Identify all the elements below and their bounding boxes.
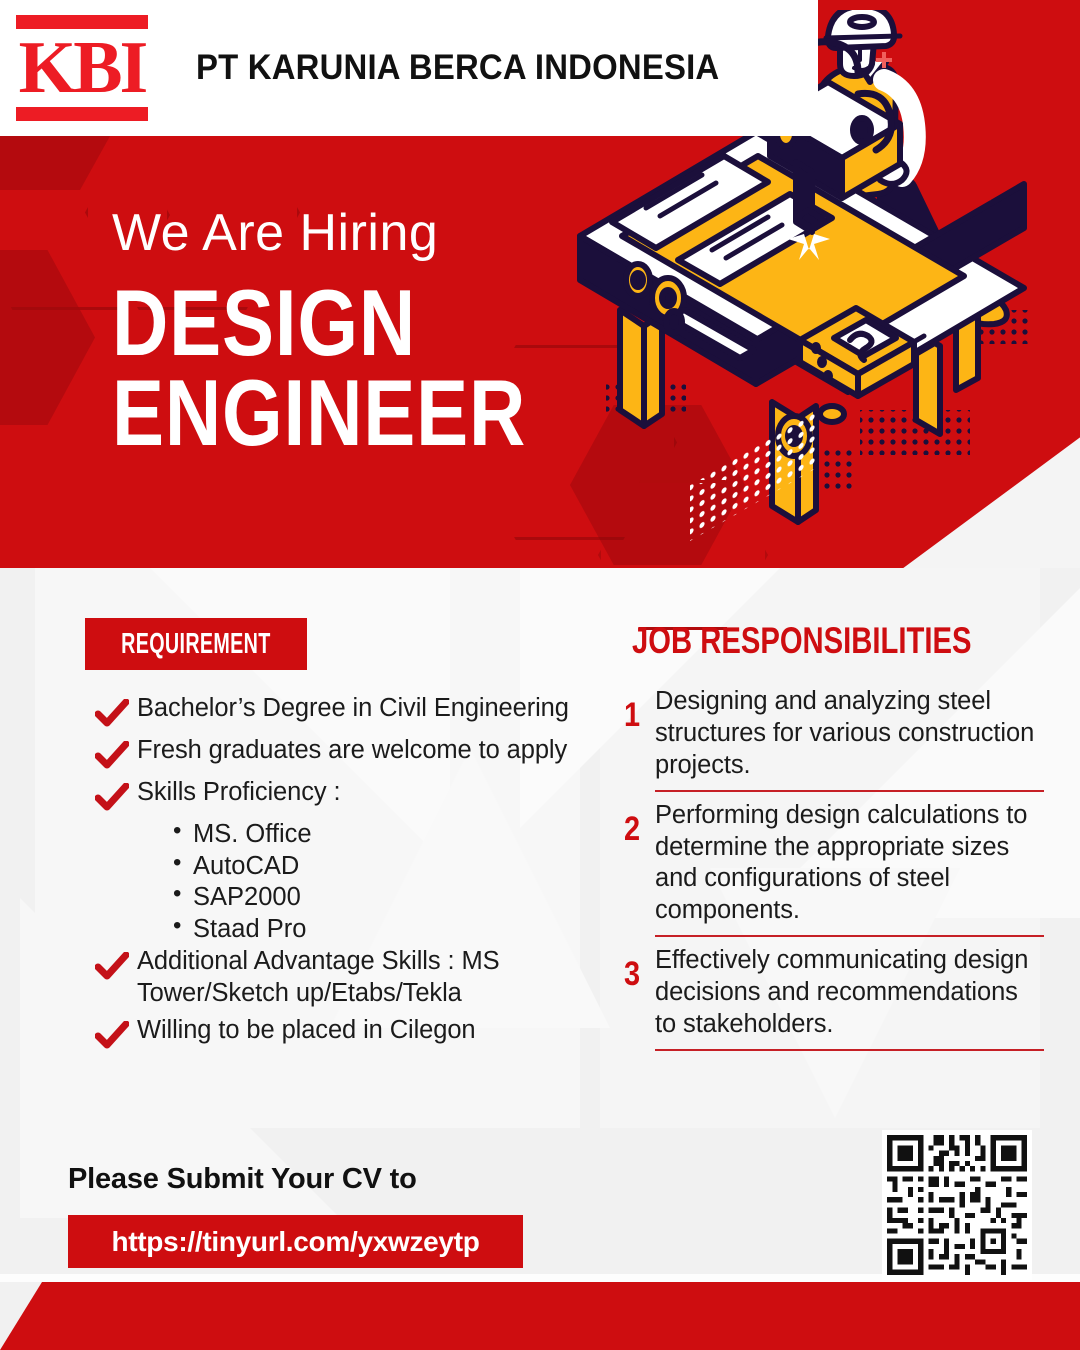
responsibility-number: 2 [624,798,650,846]
hero-text-block: We Are Hiring DESIGN ENGINEER [112,205,611,459]
responsibility-text: Designing and analyzing steel structures… [655,684,1044,782]
logo-bottom-bar [16,107,148,121]
skill-item: Staad Pro [173,914,595,946]
requirement-item: Fresh graduates are welcome to apply [95,735,595,771]
check-icon [95,952,129,982]
responsibility-item: 1 Designing and analyzing steel structur… [624,684,1044,782]
requirement-item: Additional Advantage Skills : MS Tower/S… [95,946,595,1009]
responsibility-divider [655,935,1044,937]
requirement-item-text: Bachelor’s Degree in Civil Engineering [137,693,569,724]
responsibility-item: 3 Effectively communicating design decis… [624,943,1044,1041]
responsibility-item: 2 Performing design calculations to dete… [624,798,1044,928]
requirement-item-text: Additional Advantage Skills : MS Tower/S… [137,946,595,1009]
requirement-item-text: Skills Proficiency : [137,777,340,808]
requirement-item-text: Fresh graduates are welcome to apply [137,735,567,766]
header-bar: KBI PT KARUNIA BERCA INDONESIA [0,0,818,136]
requirement-list: Bachelor’s Degree in Civil Engineering F… [95,693,595,1057]
application-url-button[interactable]: https://tinyurl.com/yxwzeytp [68,1215,523,1268]
skill-item: MS. Office [173,819,595,851]
company-name: PT KARUNIA BERCA INDONESIA [196,48,719,88]
requirement-item: Bachelor’s Degree in Civil Engineering [95,693,595,729]
footer-bar [0,1282,1080,1350]
check-icon [95,741,129,771]
check-icon [95,1021,129,1051]
responsibilities-heading: JOB RESPONSIBILITIES [632,620,971,662]
responsibility-number: 1 [624,684,650,732]
skill-item: SAP2000 [173,882,595,914]
kbi-logo: KBI [6,8,158,128]
check-icon [95,699,129,729]
hiring-kicker: We Are Hiring [112,205,611,262]
responsibility-text: Effectively communicating design decisio… [655,943,1044,1041]
requirement-item: Skills Proficiency : [95,777,595,813]
skill-item: AutoCAD [173,851,595,883]
logo-text: KBI [16,36,148,101]
requirement-heading-badge: REQUIREMENT [85,618,307,670]
requirement-heading-text: REQUIREMENT [121,628,270,661]
job-title-line-1: DESIGN [112,278,526,368]
application-url-text: https://tinyurl.com/yxwzeytp [111,1226,479,1258]
responsibility-divider [655,1049,1044,1051]
qr-code-svg [882,1130,1032,1280]
job-title-line-2: ENGINEER [112,368,526,458]
submit-cv-label: Please Submit Your CV to [68,1163,417,1196]
requirement-item-text: Willing to be placed in Cilegon [137,1015,476,1046]
qr-code[interactable] [882,1130,1032,1280]
job-poster: 8 [0,0,1080,1350]
responsibility-divider [655,790,1044,792]
skills-sublist: MS. Office AutoCAD SAP2000 Staad Pro [173,819,595,945]
responsibility-text: Performing design calculations to determ… [655,798,1044,928]
responsibility-number: 3 [624,943,650,991]
check-icon [95,783,129,813]
responsibilities-list: 1 Designing and analyzing steel structur… [624,684,1044,1057]
requirement-item: Willing to be placed in Cilegon [95,1015,595,1051]
job-title: DESIGN ENGINEER [112,278,526,458]
